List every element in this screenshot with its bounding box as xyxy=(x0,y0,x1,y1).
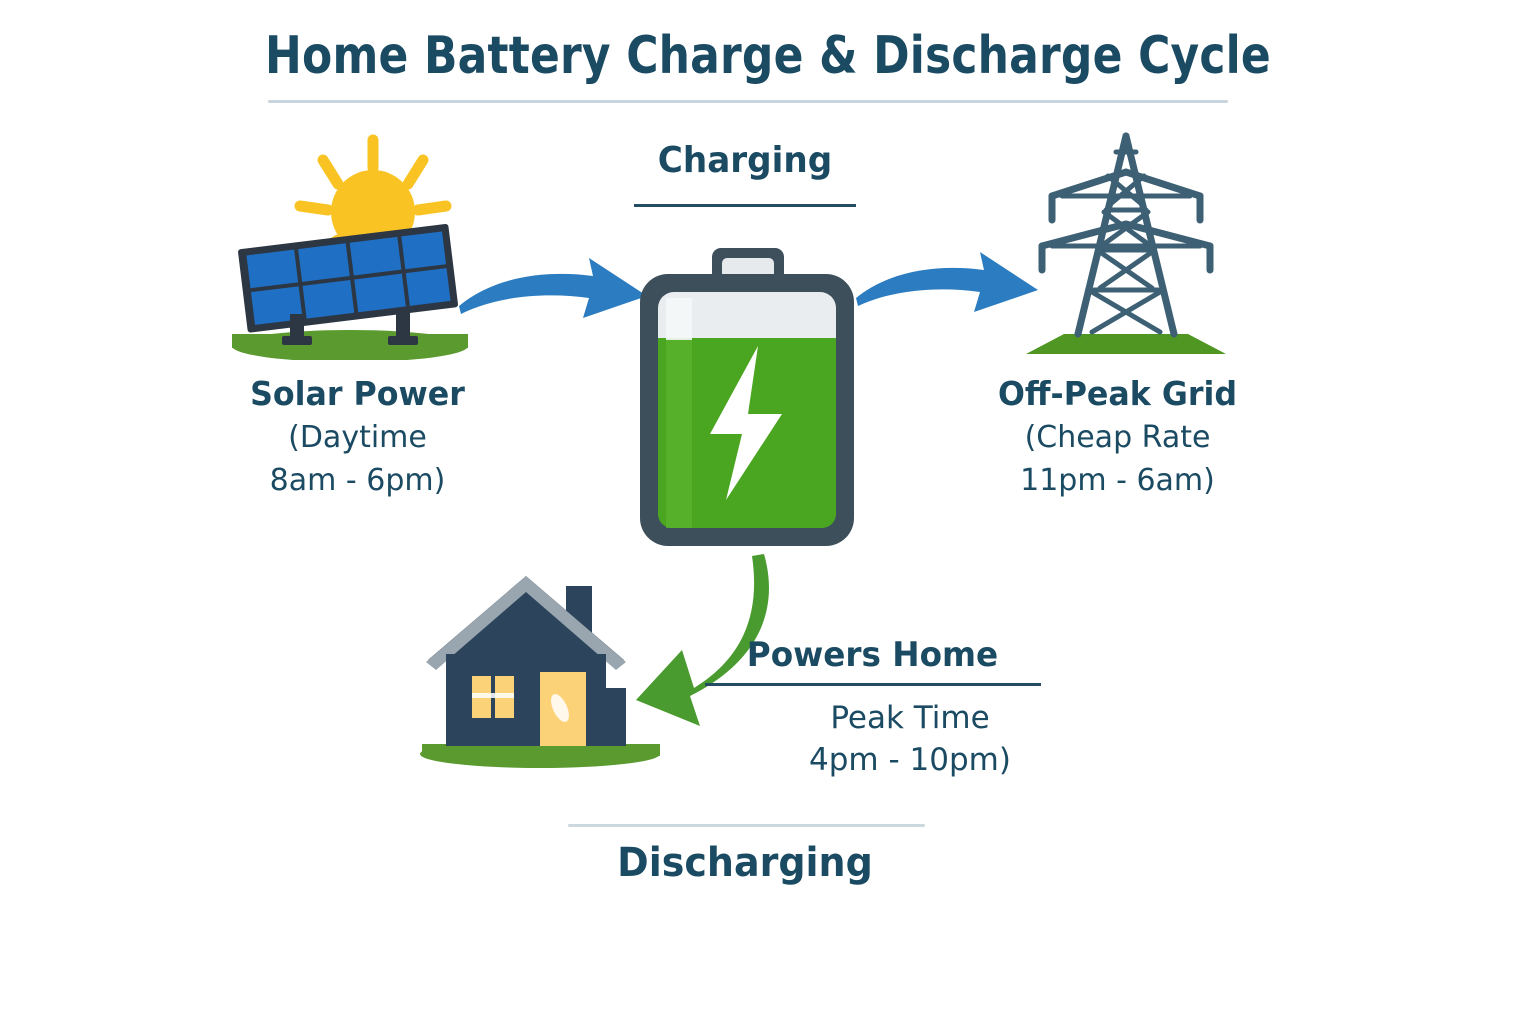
powers-home-divider xyxy=(705,683,1041,686)
discharging-label: Discharging xyxy=(512,840,978,886)
solar-detail-1: (Daytime xyxy=(215,416,500,459)
home-detail-2: 4pm - 10pm) xyxy=(730,739,1090,781)
bottom-divider xyxy=(568,824,925,827)
powers-home-label: Powers Home xyxy=(707,635,1038,675)
solar-panel-icon xyxy=(228,128,490,360)
solar-detail-2: 8am - 6pm) xyxy=(215,459,500,502)
arrow-battery-to-grid xyxy=(852,248,1042,332)
grid-caption: Off-Peak Grid (Cheap Rate 11pm - 6am) xyxy=(975,372,1260,502)
infographic-canvas: Home Battery Charge & Discharge Cycle Ch… xyxy=(0,0,1536,1024)
home-detail: Peak Time 4pm - 10pm) xyxy=(730,697,1090,781)
battery-charging-icon xyxy=(630,238,864,560)
house-icon xyxy=(418,558,668,770)
home-detail-1: Peak Time xyxy=(730,697,1090,739)
title-divider xyxy=(268,100,1228,103)
solar-heading: Solar Power xyxy=(221,372,495,416)
charging-label: Charging xyxy=(607,140,883,181)
grid-detail-2: 11pm - 6am) xyxy=(975,459,1260,502)
grid-heading: Off-Peak Grid xyxy=(981,372,1255,416)
solar-caption: Solar Power (Daytime 8am - 6pm) xyxy=(215,372,500,502)
arrow-solar-to-battery xyxy=(455,252,651,336)
charging-divider xyxy=(634,204,856,207)
grid-detail-1: (Cheap Rate xyxy=(975,416,1260,459)
page-title: Home Battery Charge & Discharge Cycle xyxy=(46,26,1490,86)
transmission-tower-icon xyxy=(1020,128,1232,360)
